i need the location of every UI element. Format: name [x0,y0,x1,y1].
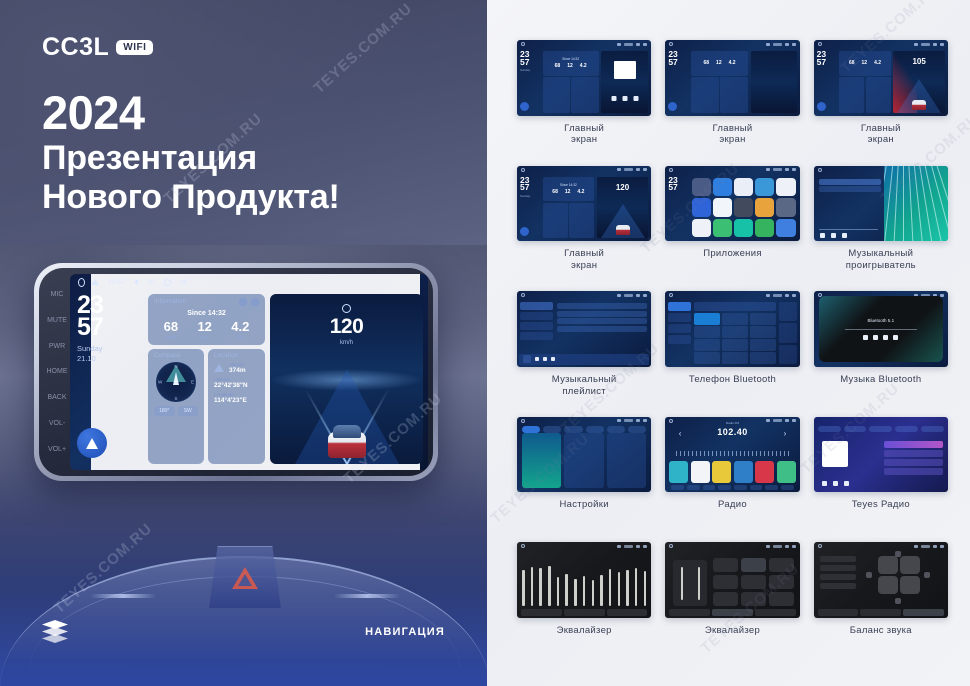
tab-wlan [522,426,540,433]
thumb-since: Since 14:32 [562,57,579,61]
screen-card[interactable]: Radio FM 102.40 ‹ › Радио [665,417,799,543]
app-icon-playstore [755,219,774,238]
dial-key-6 [750,326,776,338]
dial-key-7 [694,339,720,351]
hazard-triangle-icon [232,567,258,589]
side-key-volume-up[interactable]: VOL+ [48,446,66,453]
home-icon [521,544,525,548]
home-icon [521,419,525,423]
screen-card[interactable]: 23 57 68124.2 105 [814,40,948,166]
station-list[interactable] [884,441,943,475]
equalizer-tabs[interactable] [521,609,647,616]
toolbar-rds [734,485,747,490]
location-altitude-row: Altitude 374m [214,362,259,374]
screen-card[interactable]: Телефон Bluetooth [665,291,799,417]
thumb-stat-3: 4.2 [729,60,736,66]
thumb-clock-col: 23 57 [817,51,837,113]
dial-key-0 [722,352,748,364]
tab-balance [903,609,944,616]
app-icon-musicplayer [734,219,753,238]
tab-eq [818,609,859,616]
thumb-status-bar [517,291,651,299]
home-icon [521,168,525,172]
preset-bass [713,592,738,606]
thumb-minutes: 57 [520,59,540,67]
settings-tabs[interactable] [522,426,646,433]
logo-model-text: CC3L [42,33,109,62]
favorite-icon [779,302,797,321]
thumb-stat-3: 4.2 [577,189,584,195]
side-key-power[interactable]: PWR [49,343,65,350]
screen-thumbnail-music-player[interactable] [814,166,948,242]
thumb-body: 23 57 Sunday Since 14:32 68124.2 [517,49,651,116]
screen-card[interactable]: Баланс звука [814,542,948,668]
gain-sliders[interactable] [673,560,707,606]
settings-cards[interactable] [522,433,646,489]
app-icon-chrome [692,198,711,217]
widget-column: Information Since 14:32 68 km/h [148,294,265,464]
balance-presets[interactable] [820,556,856,589]
speed-value: 120 [330,315,364,338]
balance-right-button[interactable] [924,572,930,578]
tab-fader [712,609,753,616]
screen-label: Радио [718,499,747,511]
mini-player-bar[interactable] [519,354,649,365]
dial-key-1 [694,313,720,325]
tab-live [818,426,841,432]
pause-icon [543,357,547,361]
preset-row [820,583,856,589]
thumb-stat-1: 68 [849,60,855,66]
home-icon [818,544,822,548]
information-card-header: Information [154,298,259,306]
location-longitude-row: Longitude 114°4'23"E [214,392,259,404]
toolbar-settings [781,485,794,490]
screen-label: Главный экран [564,123,604,147]
gear-icon[interactable] [164,279,171,286]
home-icon [669,168,673,172]
speaker-rear-left [878,576,898,594]
tab-favorites [921,426,944,432]
thumb-compass-card [839,77,864,112]
track-row [819,179,881,185]
thumb-status-bar [814,542,948,550]
tab-fader [860,609,901,616]
eq-slider [522,570,525,606]
thumb-weekday: Sunday [520,68,540,72]
side-key-mic[interactable]: MIC [51,291,64,298]
thumb-speed-value: 120 [597,183,649,192]
app-icon-dvr [734,198,753,217]
toolbar-band [671,485,684,490]
stat-speed-value: 68 [164,320,178,333]
screen-thumbnail-equalizer-modes[interactable] [665,542,799,618]
drive-mode-icon [342,304,351,313]
dial-key-9 [750,339,776,351]
tab-system [586,426,604,433]
screen-thumbnail-equalizer-bars[interactable] [517,542,651,618]
screen-thumbnail-bt-phone[interactable] [665,291,799,367]
teyes-radio-tabs[interactable] [818,426,944,432]
dial-pad[interactable] [694,313,776,364]
dialer-actions[interactable] [779,302,797,364]
tab-eq [669,609,710,616]
product-logo: CC3L WIFI [42,33,153,62]
dialer-area[interactable] [694,302,776,364]
next-icon [842,233,847,238]
thumb-location-card [569,203,594,238]
backspace-icon [779,323,797,342]
album-art [523,355,531,363]
thumb-app-shortcuts [751,51,797,113]
head-unit-screen[interactable]: 23:57 15 ↺ 23 57 Sunday [70,274,428,470]
thumb-widgets: Since 14:3268124.2 [543,177,595,239]
thumb-driving-panel: 120 [597,177,649,239]
app-icon-grid [751,51,797,59]
playback-controls[interactable] [820,233,847,238]
sidebar-item-contacts [668,313,691,322]
next-icon [844,481,849,486]
thumb-compass-card [543,203,568,238]
thumb-body [665,300,799,367]
eq-slider [618,572,621,606]
status-volume: 15 [147,279,155,286]
screen-card[interactable]: 23 57 Приложения [665,166,799,292]
compass-readouts: 180° SW [154,406,198,416]
preset-row [820,556,856,562]
compass-card-title: Compass [154,353,198,359]
tab-charts [869,426,892,432]
wifi-icon [91,279,99,285]
clock-date: 21.10 [77,354,143,364]
phone-number-field [694,302,776,311]
thumb-info-card: 68124.2 [839,51,891,76]
gain-slider [698,567,700,600]
screen-card[interactable]: 23 57 68124.2 [665,40,799,166]
screen-thumbnail-radio[interactable]: Radio FM 102.40 ‹ › [665,417,799,493]
preset-rock [713,575,738,589]
sidebar-item-search [668,324,691,333]
screen-thumbnail-playlist[interactable] [517,291,651,367]
tuning-scale[interactable] [676,451,789,456]
thumb-location-card [866,77,891,112]
thumb-info-card: 68124.2 [691,51,748,76]
screen-thumbnail-teyes-radio[interactable] [814,417,948,493]
playback-controls[interactable] [822,481,849,486]
head-unit-frame: MIC MUTE PWR HOME BACK VOL- VOL+ [39,268,433,476]
music-visualizer [884,166,948,242]
screen-thumbnail-apps[interactable]: 23 57 [665,166,799,242]
preset-vocal [769,575,794,589]
dial-key-5 [722,326,748,338]
screen-thumbnail-home-drive[interactable]: 23 57 Sunday Since 14:3268124.2 120 [517,166,651,242]
sidebar-item-folders [520,332,553,340]
thumb-compass-card [691,77,719,112]
prev-icon [611,96,616,101]
screen-card[interactable]: Bluetooth 5.1 Музыка Bluetooth [814,291,948,417]
tab-balance [755,609,796,616]
eq-slider [644,571,647,606]
screen-status-bar: 23:57 15 ↺ [70,274,428,290]
sidebar-item-dialpad [668,302,691,311]
thumb-status-bar [517,40,651,48]
app-icon-google [692,219,711,238]
screen-thumbnail-home-apps[interactable]: 23 57 68124.2 [665,40,799,116]
preset-row [820,574,856,580]
app-icon-camera [776,178,795,197]
bluetooth-version-label: Bluetooth 5.1 [868,318,895,323]
thumb-status-bar [665,291,799,299]
left-hero-panel: CC3L WIFI 2024 Презентация Нового Продук… [0,0,487,686]
preset-classic [741,558,766,572]
eq-slider [574,579,577,606]
side-key-home[interactable]: HOME [47,368,68,375]
dial-key-hash [750,352,776,364]
equalizer-tabs[interactable] [818,609,944,616]
screen-card[interactable]: 23 57 Sunday Since 14:3268124.2 120 [517,166,651,292]
thumb-clock-col: 23 57 Sunday [520,177,540,239]
screen-thumbnail-home-media[interactable]: 23 57 Sunday Since 14:32 68124.2 [517,40,651,116]
tab-fader [564,609,605,616]
prev-station-button[interactable]: ‹ [679,429,682,438]
screen-label: Главный экран [713,123,753,147]
thumb-stat-2: 12 [567,63,573,69]
bt-music-panel: Bluetooth 5.1 [819,296,943,362]
thumb-status-bar [665,542,799,550]
mountain-icon [214,364,225,372]
preset-buttons[interactable] [713,558,793,606]
app-icon-filemanager [755,198,774,217]
sidebar-item-artists [520,312,553,320]
toolbar-eq [718,485,731,490]
thumb-minutes: 57 [668,184,688,192]
information-card[interactable]: Information Since 14:32 68 km/h [148,294,265,345]
navigation-fab-icon [668,102,677,111]
balance-down-button[interactable] [895,598,901,604]
information-stats: 68 km/h 12 min 4.2 [154,320,259,341]
thumb-minutes: 57 [817,59,837,67]
thumb-info-card: Since 14:32 68124.2 [543,51,599,76]
speaker-rear-right [900,576,920,594]
location-card[interactable]: Location Altitude 374m [208,349,265,464]
track-row [557,311,647,317]
thumb-clock-col: 23 57 Sunday [520,51,540,113]
balance-left-button[interactable] [866,572,872,578]
track-row [557,326,647,332]
thumb-stat-1: 68 [555,63,561,69]
status-time: 23:57 [108,279,125,286]
prev-icon [535,357,539,361]
thumb-stat-3: 4.2 [874,60,881,66]
screen-card[interactable]: Эквалайзер [517,542,651,668]
screen-label: Главный экран [564,248,604,272]
information-card-actions[interactable] [239,298,259,306]
gain-slider [681,567,683,600]
latitude-value: 22°42'38"N [214,382,259,389]
thumb-widgets: Since 14:32 68124.2 [543,51,599,113]
home-icon[interactable] [78,278,85,287]
pause-icon [831,233,836,238]
thumb-stat-1: 68 [703,60,709,66]
head-unit-bezel: MIC MUTE PWR HOME BACK VOL- VOL+ [34,263,438,481]
thumb-info-card: Since 14:3268124.2 [543,177,595,202]
equalizer-sliders[interactable] [522,554,646,606]
tab-balance [607,609,648,616]
app-icon-bluetooth-music [734,178,753,197]
screen-thumbnail-bt-music[interactable]: Bluetooth 5.1 [814,291,948,367]
screen-thumbnail-settings[interactable] [517,417,651,493]
volume-icon[interactable] [134,279,138,285]
thumb-body: 23 57 [665,175,799,242]
status-icons [617,43,647,46]
radio-toolbar[interactable] [671,485,793,490]
thumb-clock-col: 23 57 [668,51,688,113]
navigation-fab-button[interactable] [77,428,107,458]
screen-label: Приложения [703,248,762,260]
tab-about [607,426,625,433]
screen-card[interactable]: Настройки [517,417,651,543]
progress-bar[interactable] [845,329,917,330]
thumb-clock-col: 23 57 [668,177,688,239]
stat-distance-value: 4.2 [231,320,249,333]
clock-minutes: 57 [77,316,143,338]
headline-line-2: Нового Продукта! [42,178,340,217]
balance-up-button[interactable] [895,551,901,557]
radio-band-label: Radio FM [665,421,799,425]
compass-dial: N E S W [156,362,196,402]
station-presets[interactable] [669,461,795,483]
prev-icon [822,481,827,486]
next-icon [551,357,555,361]
eq-slider [531,567,534,606]
track-row [557,318,647,324]
compass-card[interactable]: Compass N E S W [148,349,204,464]
thumb-status-bar [517,166,651,174]
screen-card[interactable]: Музыкальный проигрыватель [814,166,948,292]
screen-card[interactable]: Эквалайзер [665,542,799,668]
app-icon-calculator [755,178,774,197]
location-card-title: Location [214,353,259,359]
thumb-body: 23 57 Sunday Since 14:3268124.2 120 [517,175,651,242]
thumb-minutes: 57 [520,184,540,192]
compass-direction: SW [178,406,199,416]
navigation-fab-icon [817,102,826,111]
eq-slider [592,580,595,606]
preset-flat [713,558,738,572]
playback-controls[interactable] [863,335,898,340]
navigation-label: НАВИГАЦИЯ [365,626,445,638]
refresh-icon[interactable] [239,298,247,306]
eq-slider [565,574,568,606]
media-controls [611,96,638,101]
expand-icon[interactable] [251,298,259,306]
stat-distance-unit: km [231,335,249,341]
driving-view-panel[interactable]: 120 km/h [270,294,423,464]
lead-car-icon [912,100,926,110]
stat-distance: 4.2 km [231,320,249,341]
screen-card[interactable]: Teyes Радио [814,417,948,543]
screen-thumbnail-home-drive-red[interactable]: 23 57 68124.2 105 [814,40,948,116]
information-card-title: Information [154,299,186,305]
home-icon [818,168,822,172]
side-key-volume-down[interactable]: VOL- [49,420,65,427]
speaker-grid[interactable] [878,556,920,594]
hazard-button[interactable] [209,546,281,608]
stop-icon [883,335,888,340]
equalizer-tabs[interactable] [669,609,795,616]
home-icon [521,42,525,46]
thumb-compass-card [543,77,570,112]
back-icon[interactable]: ↺ [180,278,187,287]
thumb-stat-3: 4.2 [580,63,587,69]
stat-speed-unit: km/h [164,335,178,341]
preset-6 [777,461,796,483]
home-icon [669,293,673,297]
side-key-mute[interactable]: MUTE [47,317,67,324]
thumb-lower-row [543,77,599,112]
dial-key-4 [694,326,720,338]
thumb-weekday: Sunday [520,194,540,198]
navigation-fab-icon [520,102,529,111]
toolbar-af [765,485,778,490]
watermark: TEYES.COM.RU [311,0,416,97]
station-row [884,441,943,448]
dial-key-star [694,352,720,364]
next-icon [893,335,898,340]
progress-bar[interactable] [819,229,878,231]
sidebar-item-albums [520,322,553,330]
more-card [607,433,646,489]
head-unit-side-keys[interactable]: MIC MUTE PWR HOME BACK VOL- VOL+ [44,274,70,470]
screen-label: Музыкальный плейлист [552,374,617,398]
station-row [884,450,943,457]
logo-wifi-badge: WIFI [116,40,153,55]
tab-eq [521,609,562,616]
altitude-value: 374m [229,367,246,374]
screens-gallery-panel: 23 57 Sunday Since 14:32 68124.2 [487,0,970,686]
thumb-body: 23 57 68124.2 105 [814,49,948,116]
phone-sidebar[interactable] [668,302,691,364]
compass-east-label: E [191,380,194,385]
clock-widget[interactable]: 23 57 Sunday 21.10 [77,294,143,464]
screen-label: Телефон Bluetooth [689,374,776,386]
preset-1 [669,461,688,483]
screen-thumbnail-sound-balance[interactable] [814,542,948,618]
tab-genres [895,426,918,432]
information-since-text: Since 14:32 [154,310,259,317]
headline-line-1: Презентация [42,139,340,178]
speed-unit: km/h [270,340,423,346]
screen-card[interactable]: Музыкальный плейлист [517,291,651,417]
hero-headline: 2024 Презентация Нового Продукта! [42,88,340,216]
next-icon [633,96,638,101]
preset-custom [769,592,794,606]
tab-display [564,426,582,433]
side-key-back[interactable]: BACK [47,394,66,401]
thumb-status-bar [814,40,948,48]
screen-card[interactable]: 23 57 Sunday Since 14:32 68124.2 [517,40,651,166]
preset-3 [712,461,731,483]
track-row [819,186,881,192]
thumb-stats: 68124.2 [555,63,587,69]
thumb-speed-value: 105 [893,57,945,66]
eq-slider [626,570,629,606]
screens-grid: 23 57 Sunday Since 14:32 68124.2 [487,0,970,686]
home-icon [521,293,525,297]
next-station-button[interactable]: › [784,429,787,438]
layers-icon[interactable] [42,620,68,646]
lead-car-icon [326,416,368,458]
